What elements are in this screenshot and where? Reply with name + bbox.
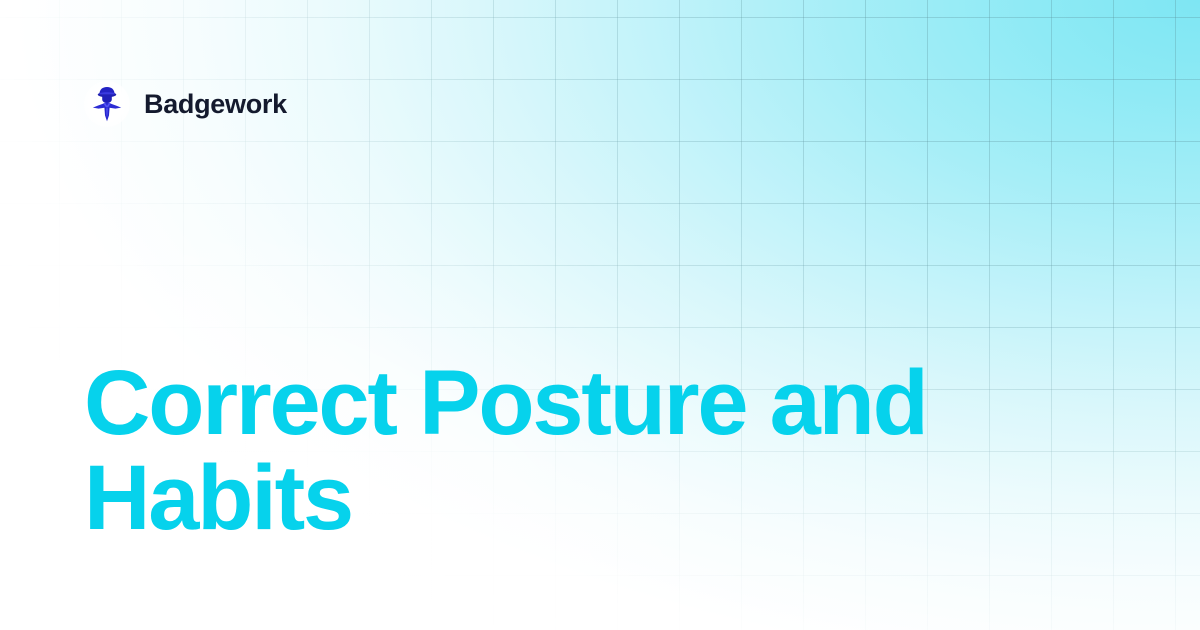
social-card: Badgework Correct Posture and Habits <box>0 0 1200 630</box>
badge-officer-icon <box>84 81 130 127</box>
page-title-line-1: Correct Posture and <box>84 356 984 451</box>
brand-name: Badgework <box>144 91 287 118</box>
page-title-line-2: Habits <box>84 451 984 546</box>
brand-lockup[interactable]: Badgework <box>84 81 287 127</box>
card-content: Badgework Correct Posture and Habits <box>0 0 1200 630</box>
page-title: Correct Posture and Habits <box>84 356 984 546</box>
